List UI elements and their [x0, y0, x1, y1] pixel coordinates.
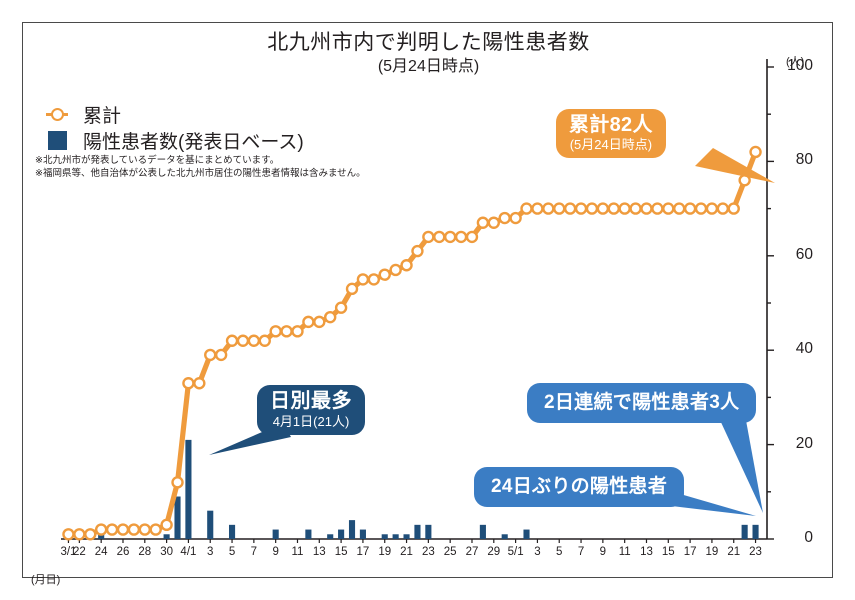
cumulative-point-5/5: [554, 204, 564, 214]
cumulative-point-5/9: [598, 204, 608, 214]
bar-4/23: [425, 525, 431, 539]
cumulative-point-4/21: [402, 260, 412, 270]
bar-4/21: [403, 534, 409, 539]
cumulative-point-4/3: [205, 350, 215, 360]
bar-4/17: [360, 530, 366, 539]
x-tick-label-5/15: 15: [662, 546, 675, 558]
bar-4/5: [229, 525, 235, 539]
cumulative-point-5/1: [511, 213, 521, 223]
cumulative-point-4/17: [358, 274, 368, 284]
x-tick-label-3/28: 28: [138, 546, 151, 558]
bar-4/9: [273, 530, 279, 539]
bar-4/15: [338, 530, 344, 539]
y-tick-label-60: 60: [779, 246, 813, 264]
x-tick-label-3/24: 24: [95, 546, 108, 558]
bar-4/20: [393, 534, 399, 539]
cumulative-point-4/15: [336, 303, 346, 313]
x-tick-label-4/5: 5: [229, 546, 235, 558]
bar-3/31: [174, 497, 180, 539]
x-tick-label-5/1: 5/1: [508, 546, 524, 558]
cumulative-point-4/27: [467, 232, 477, 242]
cumulative-point-4/8: [260, 336, 270, 346]
callout-24-days-since: 24日ぶりの陽性患者: [474, 467, 684, 507]
cumulative-point-4/25: [445, 232, 455, 242]
x-tick-label-4/19: 19: [378, 546, 391, 558]
cumulative-point-5/4: [543, 204, 553, 214]
x-tick-label-5/23: 23: [749, 546, 762, 558]
x-tick-label-3/26: 26: [117, 546, 130, 558]
x-tick-label-4/21: 21: [400, 546, 413, 558]
cumulative-point-5/19: [707, 204, 717, 214]
callout-total-sub: (5月24日時点): [569, 138, 653, 153]
x-tick-label-4/3: 3: [207, 546, 213, 558]
y-tick-label-40: 40: [779, 340, 813, 358]
cumulative-point-4/2: [194, 378, 204, 388]
x-tick-label-5/19: 19: [706, 546, 719, 558]
y-tick-label-100: 100: [779, 57, 813, 75]
x-tick-label-4/9: 9: [272, 546, 278, 558]
cumulative-point-5/17: [685, 204, 695, 214]
bar-5/22: [742, 525, 748, 539]
cumulative-point-4/9: [271, 326, 281, 336]
bar-4/1: [185, 440, 191, 539]
chart-frame: 北九州市内で判明した陽性患者数 (5月24日時点) 累計 陽性患者数(発表日ベー…: [22, 22, 833, 578]
x-tick-label-4/27: 27: [466, 546, 479, 558]
cumulative-point-3/29: [151, 525, 161, 535]
cumulative-point-3/28: [140, 525, 150, 535]
cumulative-point-3/23: [85, 529, 95, 539]
callout-daily-max-sub: 4月1日(21人): [270, 415, 352, 430]
x-tick-label-5/17: 17: [684, 546, 697, 558]
cumulative-point-5/13: [641, 204, 651, 214]
y-tick-label-0: 0: [779, 529, 813, 547]
cumulative-point-4/20: [391, 265, 401, 275]
chart-page: 北九州市内で判明した陽性患者数 (5月24日時点) 累計 陽性患者数(発表日ベー…: [0, 0, 855, 600]
x-axis-unit-label: (月日): [31, 571, 60, 587]
cumulative-point-4/23: [423, 232, 433, 242]
cumulative-point-3/31: [173, 477, 183, 487]
bar-4/3: [207, 511, 213, 539]
bar-4/14: [327, 534, 333, 539]
x-tick-label-4/17: 17: [357, 546, 370, 558]
callout-24days-main: 24日ぶりの陽性患者: [491, 476, 667, 497]
x-tick-label-5/21: 21: [727, 546, 740, 558]
bar-5/2: [523, 530, 529, 539]
cumulative-point-5/10: [609, 204, 619, 214]
cumulative-point-3/30: [162, 520, 172, 530]
cumulative-point-4/28: [478, 218, 488, 228]
bar-4/12: [305, 530, 311, 539]
bar-4/22: [414, 525, 420, 539]
callout-two-days-main: 2日連続で陽性患者3人: [544, 392, 739, 413]
cumulative-point-4/24: [434, 232, 444, 242]
x-tick-label-5/5: 5: [556, 546, 562, 558]
cumulative-point-5/11: [620, 204, 630, 214]
cumulative-point-4/14: [325, 312, 335, 322]
cumulative-point-5/2: [522, 204, 532, 214]
cumulative-point-5/21: [729, 204, 739, 214]
x-tick-label-5/3: 3: [534, 546, 540, 558]
x-tick-label-4/15: 15: [335, 546, 348, 558]
cumulative-point-5/14: [652, 204, 662, 214]
cumulative-point-4/6: [238, 336, 248, 346]
bar-4/16: [349, 520, 355, 539]
cumulative-point-5/6: [565, 204, 575, 214]
cumulative-point-3/24: [96, 525, 106, 535]
y-tick-label-80: 80: [779, 151, 813, 169]
x-tick-label-5/7: 7: [578, 546, 584, 558]
bar-3/30: [164, 534, 170, 539]
x-tick-label-4/29: 29: [487, 546, 500, 558]
x-tick-label-4/25: 25: [444, 546, 457, 558]
x-tick-label-4/11: 11: [292, 546, 304, 558]
cumulative-point-5/3: [532, 204, 542, 214]
cumulative-point-5/8: [587, 204, 597, 214]
cumulative-point-4/22: [412, 246, 422, 256]
cumulative-point-5/23: [751, 147, 761, 157]
bar-4/30: [502, 534, 508, 539]
cumulative-point-4/16: [347, 284, 357, 294]
cumulative-point-3/27: [129, 525, 139, 535]
callout-two-consecutive-days: 2日連続で陽性患者3人: [527, 383, 756, 423]
x-tick-label-4/7: 7: [251, 546, 257, 558]
cumulative-point-4/19: [380, 270, 390, 280]
cumulative-point-4/7: [249, 336, 259, 346]
x-tick-label-4/23: 23: [422, 546, 435, 558]
cumulative-point-4/1: [183, 378, 193, 388]
cumulative-point-5/7: [576, 204, 586, 214]
cumulative-point-4/30: [500, 213, 510, 223]
x-tick-label-5/9: 9: [600, 546, 606, 558]
callout-total-tail: [695, 148, 775, 183]
x-tick-label-5/11: 11: [619, 546, 631, 558]
callout-daily-max: 日別最多 4月1日(21人): [257, 385, 365, 435]
cumulative-point-5/20: [718, 204, 728, 214]
x-tick-label-3/22: 22: [73, 546, 86, 558]
cumulative-point-5/12: [631, 204, 641, 214]
cumulative-point-4/10: [282, 326, 292, 336]
callout-cumulative-total: 累計82人 (5月24日時点): [556, 109, 666, 158]
bar-4/19: [382, 534, 388, 539]
cumulative-point-4/13: [314, 317, 324, 327]
x-tick-label-4/13: 13: [313, 546, 326, 558]
cumulative-point-3/26: [118, 525, 128, 535]
x-tick-label-4/1: 4/1: [180, 546, 196, 558]
cumulative-point-5/18: [696, 204, 706, 214]
cumulative-point-3/1: [63, 529, 73, 539]
cumulative-point-4/11: [292, 326, 302, 336]
cumulative-point-4/26: [456, 232, 466, 242]
callout-total-main: 累計82人: [569, 114, 653, 137]
cumulative-point-5/15: [663, 204, 673, 214]
y-tick-label-20: 20: [779, 435, 813, 453]
x-tick-label-5/13: 13: [640, 546, 653, 558]
bar-4/28: [480, 525, 486, 539]
cumulative-point-5/16: [674, 204, 684, 214]
callout-daily-max-main: 日別最多: [270, 390, 352, 413]
x-tick-label-3/30: 30: [160, 546, 173, 558]
cumulative-point-4/29: [489, 218, 499, 228]
cumulative-point-3/25: [107, 525, 117, 535]
cumulative-point-4/4: [216, 350, 226, 360]
cumulative-point-4/12: [303, 317, 313, 327]
cumulative-point-3/22: [74, 529, 84, 539]
chart-plot-area: [23, 23, 834, 579]
bar-5/23: [752, 525, 758, 539]
cumulative-point-4/5: [227, 336, 237, 346]
cumulative-point-4/18: [369, 274, 379, 284]
